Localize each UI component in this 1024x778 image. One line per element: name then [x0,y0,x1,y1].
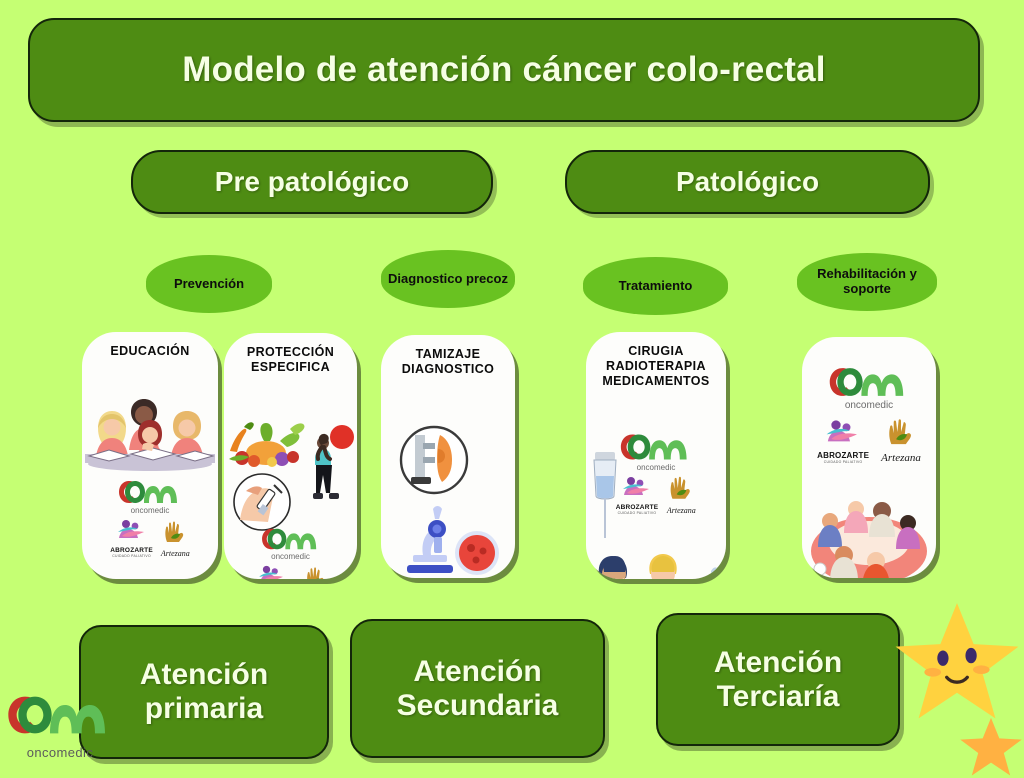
iv-drip-icon [586,450,625,546]
partner-logos: ABROZARTE CUIDADO PALIATIVO Artezana [82,518,218,558]
phase-label: Patológico [676,166,819,198]
card-body: oncomedic ABROZARTE CUIDADO PALIATIVO [82,359,218,579]
artezana-wordmark: Artezana [666,506,696,515]
oncomedic-wordmark: oncomedic [4,745,116,760]
level-button-atencion-primaria[interactable]: Atención primaria [79,625,329,759]
step-pill-rehabilitacion-y-soporte[interactable]: Rehabilitación y soporte [797,253,937,311]
phase-label: Pre patológico [215,166,409,198]
oncomedic-logo: oncomedic [4,690,116,762]
artezana-wordmark: Artezana [161,549,190,558]
partner-logos: ABROZARTE CUIDADO PALIATIVO Artezana [802,417,936,464]
brand-logo-block: oncomedic ABROZARTE CUIDADO PALIATIVO [224,525,357,580]
oncomedic-logo-icon [826,363,912,401]
oncomedic-wordmark: oncomedic [802,400,936,411]
oncomedic-logo-icon [117,477,183,507]
artezana-logo: Artezana [881,417,921,464]
artezana-wordmark: Artezana [881,452,921,464]
abrozarte-logo: ABROZARTE CUIDADO PALIATIVO [110,518,153,558]
brand-logo-block: oncomedic ABROZARTE CUIDADO PALIATIVO [802,363,936,464]
syringe-icon [674,556,726,579]
oncomedic-logo-icon [618,430,694,464]
hand-leaf-icon [161,520,189,544]
oncomedic-logo-icon [260,525,322,553]
abrozarte-logo: ABROZARTE CUIDADO PALIATIVO [251,564,294,580]
abrozarte-icon [257,564,287,580]
support-group-circle-illustration [804,477,934,578]
card-title: TAMIZAJE DIAGNOSTICO [381,335,515,377]
page-title: Modelo de atención cáncer colo-rectal [28,18,980,122]
step-label: Diagnostico precoz [382,272,514,287]
vegetables-exercise-vaccine-illustration [224,417,357,537]
card-cirugia-radioterapia-medicamentos[interactable]: CIRUGIA RADIOTERAPIA MEDICAMENTOS oncome… [586,332,726,579]
abrozarte-tagline: CUIDADO PALIATIVO [817,460,869,464]
step-pill-prevencion[interactable]: Prevención [146,255,272,313]
card-proteccion-especifica[interactable]: PROTECCIÓN ESPECIFICA [224,333,357,579]
card-rehabilitacion-soporte[interactable]: oncomedic ABROZARTE CUIDADO PALIATIVO [802,337,936,578]
level-label: Atención Terciaría [714,646,842,713]
students-studying-illustration [85,394,215,472]
small-star-icon [955,714,1024,778]
card-educacion[interactable]: EDUCACIÓN [82,332,218,579]
level-button-atencion-terciaria[interactable]: Atención Terciaría [656,613,900,746]
slide-canvas: Modelo de atención cáncer colo-rectal Pr… [0,0,1024,768]
hand-leaf-icon [884,417,918,447]
step-pill-diagnostico-precoz[interactable]: Diagnostico precoz [381,250,515,308]
card-body: oncomedic ABROZARTE CUIDADO PALIATIVO [224,375,357,580]
oncomedic-logo-icon [4,690,116,740]
step-pill-tratamiento[interactable]: Tratamiento [583,257,728,315]
level-label: Atención Secundaria [397,655,559,722]
artezana-logo: Artezana [301,566,330,580]
step-label: Prevención [168,277,250,292]
artezana-logo: Artezana [666,475,696,515]
level-button-atencion-secundaria[interactable]: Atención Secundaria [350,619,605,758]
smiling-star-icon [893,598,1021,726]
oncomedic-wordmark: oncomedic [224,552,357,561]
abrozarte-icon [824,418,862,446]
card-body: oncomedic ABROZARTE CUIDADO PALIATIVO [802,349,936,578]
card-body [381,377,515,579]
brand-logo-block: oncomedic ABROZARTE CUIDADO PALIATIVO [82,477,218,558]
hand-leaf-icon [303,566,329,580]
card-title [802,337,936,349]
oncomedic-wordmark: oncomedic [82,506,218,515]
page-title-text: Modelo de atención cáncer colo-rectal [182,50,825,90]
card-title: PROTECCIÓN ESPECIFICA [224,333,357,375]
mammogram-machine-icon [398,425,470,495]
hand-leaf-icon [666,475,696,501]
abrozarte-icon [621,475,653,499]
card-title: EDUCACIÓN [82,332,218,359]
microscope-cell-icon [393,503,501,579]
card-tamizaje-diagnostico[interactable]: TAMIZAJE DIAGNOSTICO [381,335,515,578]
abrozarte-tagline: CUIDADO PALIATIVO [110,554,153,558]
step-label: Tratamiento [613,279,699,294]
card-title: CIRUGIA RADIOTERAPIA MEDICAMENTOS [586,332,726,388]
abrozarte-wordmark: ABROZARTE [110,547,153,554]
abrozarte-logo: ABROZARTE CUIDADO PALIATIVO [817,418,869,464]
level-label: Atención primaria [140,658,268,725]
phase-pill-patologico[interactable]: Patológico [565,150,930,214]
artezana-logo: Artezana [161,520,190,558]
phase-pill-pre-patologico[interactable]: Pre patológico [131,150,493,214]
abrozarte-wordmark: ABROZARTE [817,451,869,460]
step-label: Rehabilitación y soporte [797,267,937,297]
partner-logos: ABROZARTE CUIDADO PALIATIVO Artezana [224,564,357,580]
abrozarte-icon [116,518,148,542]
card-body: oncomedic ABROZARTE CUIDADO PALIATIVO [586,388,726,579]
